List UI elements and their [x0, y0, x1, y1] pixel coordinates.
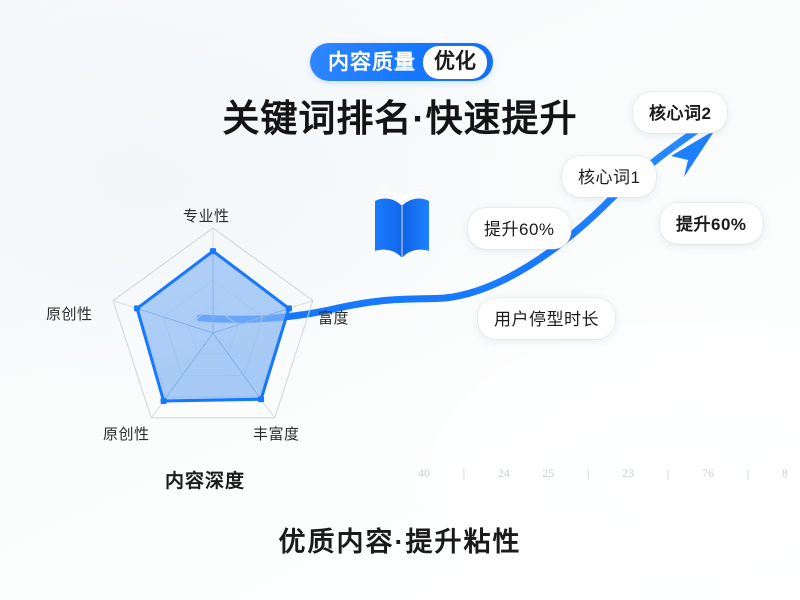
badge-chip-label: 优化: [423, 46, 487, 79]
content-depth-label: 内容深度: [165, 466, 245, 493]
radar-axis-label-bottom-left: 原创性: [103, 423, 150, 444]
axis-tick-scale: 40|2425|23|76|8: [418, 462, 788, 484]
tick-mark: |: [667, 466, 670, 480]
tick-value: 76: [702, 467, 714, 479]
footer-slogan: 优质内容·提升粘性: [0, 520, 800, 559]
radar-axis-label-bottom-right: 丰富度: [253, 423, 300, 444]
content-quality-badge[interactable]: 内容质量 优化: [310, 43, 493, 81]
radar-chart-svg: [48, 215, 388, 465]
poster-canvas: 专业性 富度 丰富度 原创性 原创性 内容质量 优化 关键词排名·快速提升 核心…: [0, 0, 800, 600]
tag-pill[interactable]: 提升60%: [660, 203, 763, 244]
radar-grid: [113, 228, 313, 418]
tick-mark: |: [746, 466, 749, 480]
tick-mark: |: [462, 466, 465, 480]
tick-value: 25: [542, 467, 554, 479]
tag-pill[interactable]: 提升60%: [468, 208, 571, 249]
radar-axis-label-right: 富度: [318, 307, 349, 328]
radar-chart: 专业性 富度 丰富度 原创性 原创性: [48, 215, 388, 465]
badge-main-label: 内容质量: [328, 52, 416, 73]
tick-value: 24: [498, 467, 510, 479]
tick-value: 40: [418, 467, 430, 479]
tick-mark: |: [587, 466, 590, 480]
radar-axis-label-top: 专业性: [183, 205, 230, 226]
tag-pill[interactable]: 核心词1: [562, 156, 656, 197]
tick-value: 23: [622, 467, 634, 479]
tick-value: 8: [782, 467, 788, 479]
radar-axis-label-left: 原创性: [46, 303, 93, 324]
open-book-icon: [371, 188, 433, 262]
tag-pill[interactable]: 用户停型时长: [478, 298, 615, 339]
tag-pill[interactable]: 核心词2: [633, 92, 727, 133]
